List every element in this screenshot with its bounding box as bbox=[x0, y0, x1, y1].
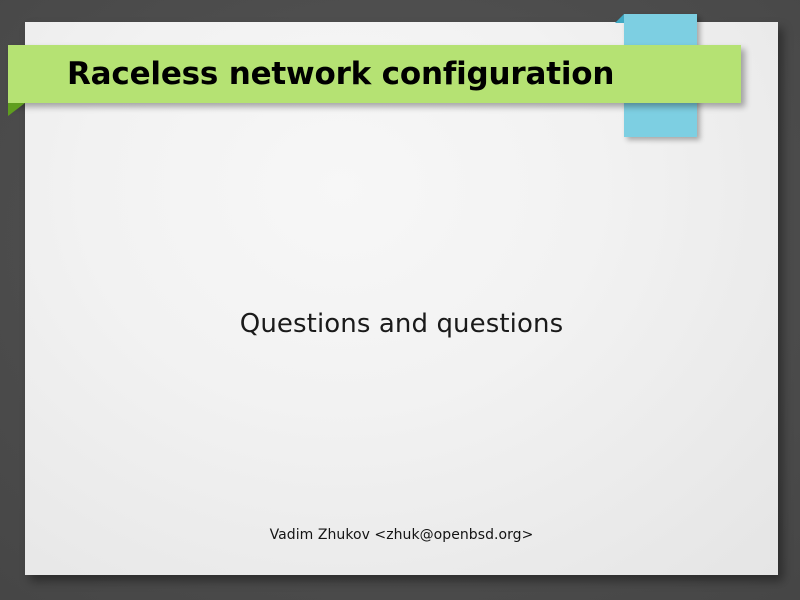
slide-title: Raceless network configuration bbox=[67, 59, 614, 90]
presentation-viewport: Raceless network configuration Questions… bbox=[0, 0, 800, 600]
title-ribbon: Raceless network configuration bbox=[8, 45, 741, 103]
slide-headline: Questions and questions bbox=[25, 310, 778, 339]
slide-canvas: Raceless network configuration Questions… bbox=[25, 22, 778, 575]
slide-body: Questions and questions Vadim Zhukov <zh… bbox=[25, 132, 778, 575]
slide-byline-author: Vadim Zhukov <zhuk@openbsd.org> bbox=[25, 527, 778, 543]
